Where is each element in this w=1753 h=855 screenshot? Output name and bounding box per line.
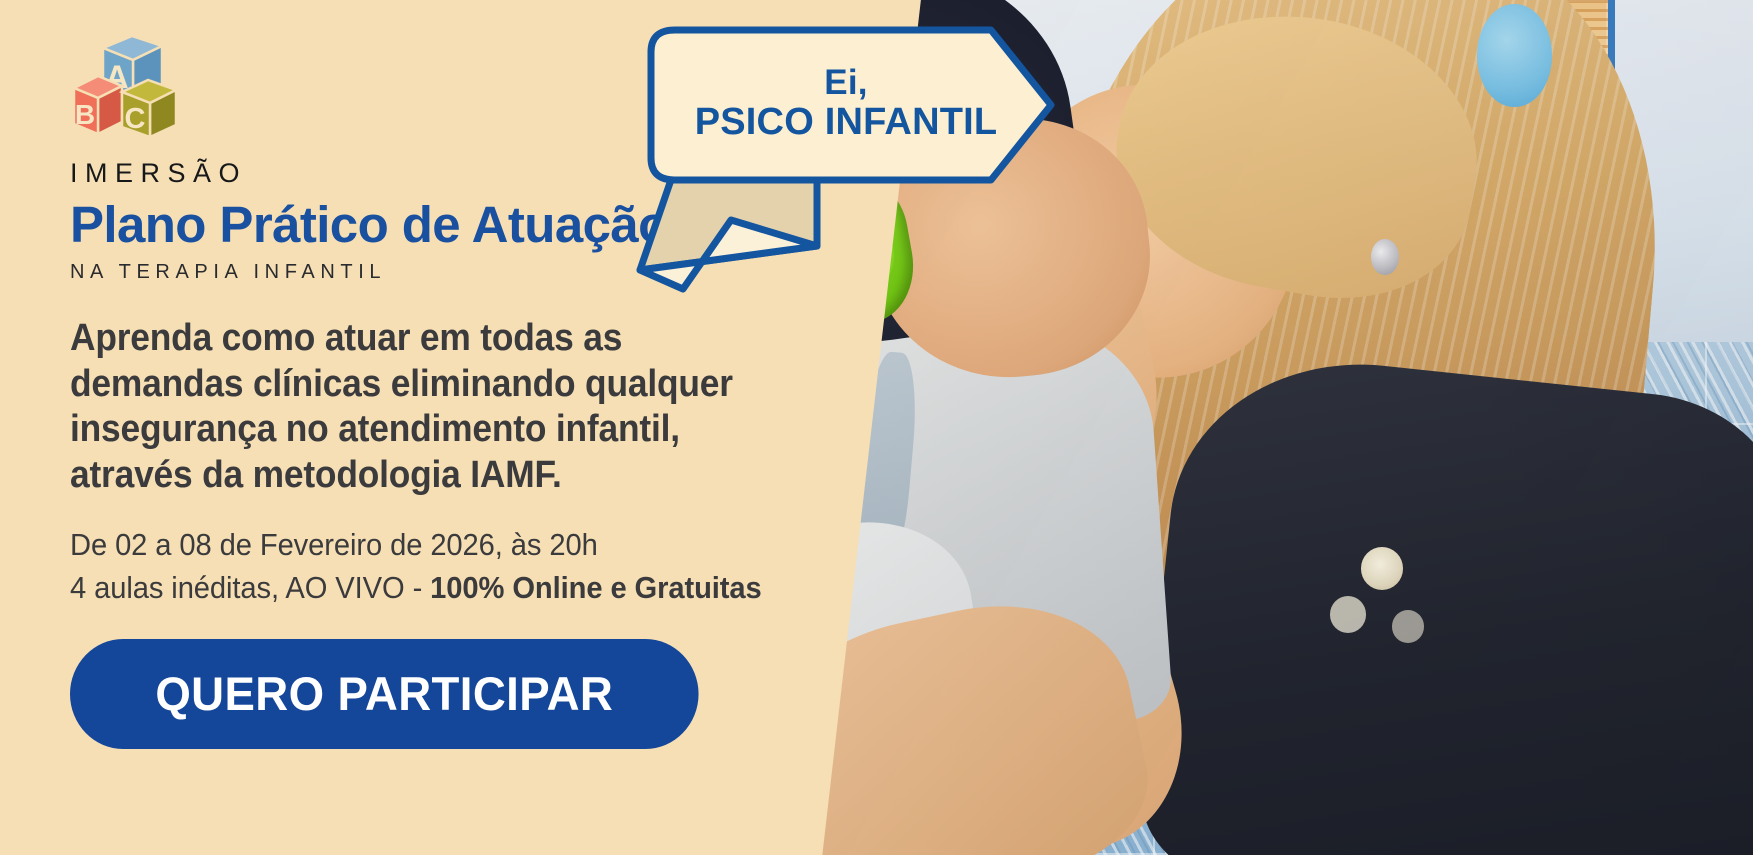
bubble-line-2: PSICO INFANTIL <box>695 103 998 143</box>
quero-participar-button[interactable]: QUERO PARTICIPAR <box>70 639 699 749</box>
bubble-text: Ei, PSICO INFANTIL <box>631 24 1061 184</box>
subkicker-terapia-infantil: NA TERAPIA INFANTIL <box>70 262 930 282</box>
girl-hair-clip <box>1477 4 1551 107</box>
svg-text:C: C <box>125 103 146 135</box>
event-lessons-highlight: 100% Online e Gratuitas <box>430 570 761 605</box>
girl-shirt-detail <box>1361 547 1403 590</box>
headline-line-1: Aprenda como atuar em todas as <box>70 316 777 362</box>
headline: Aprenda como atuar em todas as demandas … <box>70 316 777 498</box>
headline-line-3: insegurança no atendimento infantil, <box>70 407 777 453</box>
block-c-icon: C <box>122 80 176 137</box>
headline-line-4: através da metodologia IAMF. <box>70 453 777 499</box>
bubble-line-1: Ei, <box>824 65 867 102</box>
abc-blocks-logo: A B C <box>70 30 192 138</box>
event-lessons: 4 aulas inéditas, AO VIVO - 100% Online … <box>70 567 878 609</box>
girl-earring <box>1371 239 1399 275</box>
page-title: Plano Prático de Atuação <box>70 199 930 251</box>
promo-banner: A B C IMERSÃO Plano Práti <box>0 0 1753 855</box>
event-lessons-prefix: 4 aulas inéditas, AO VIVO - <box>70 570 430 605</box>
block-b-icon: B <box>74 76 122 134</box>
event-date: De 02 a 08 de Fevereiro de 2026, às 20h <box>70 524 878 566</box>
event-details: De 02 a 08 de Fevereiro de 2026, às 20h … <box>70 524 930 608</box>
svg-text:B: B <box>75 99 95 130</box>
headline-line-2: demandas clínicas eliminando qualquer <box>70 362 777 408</box>
girl-shirt <box>1133 346 1753 855</box>
